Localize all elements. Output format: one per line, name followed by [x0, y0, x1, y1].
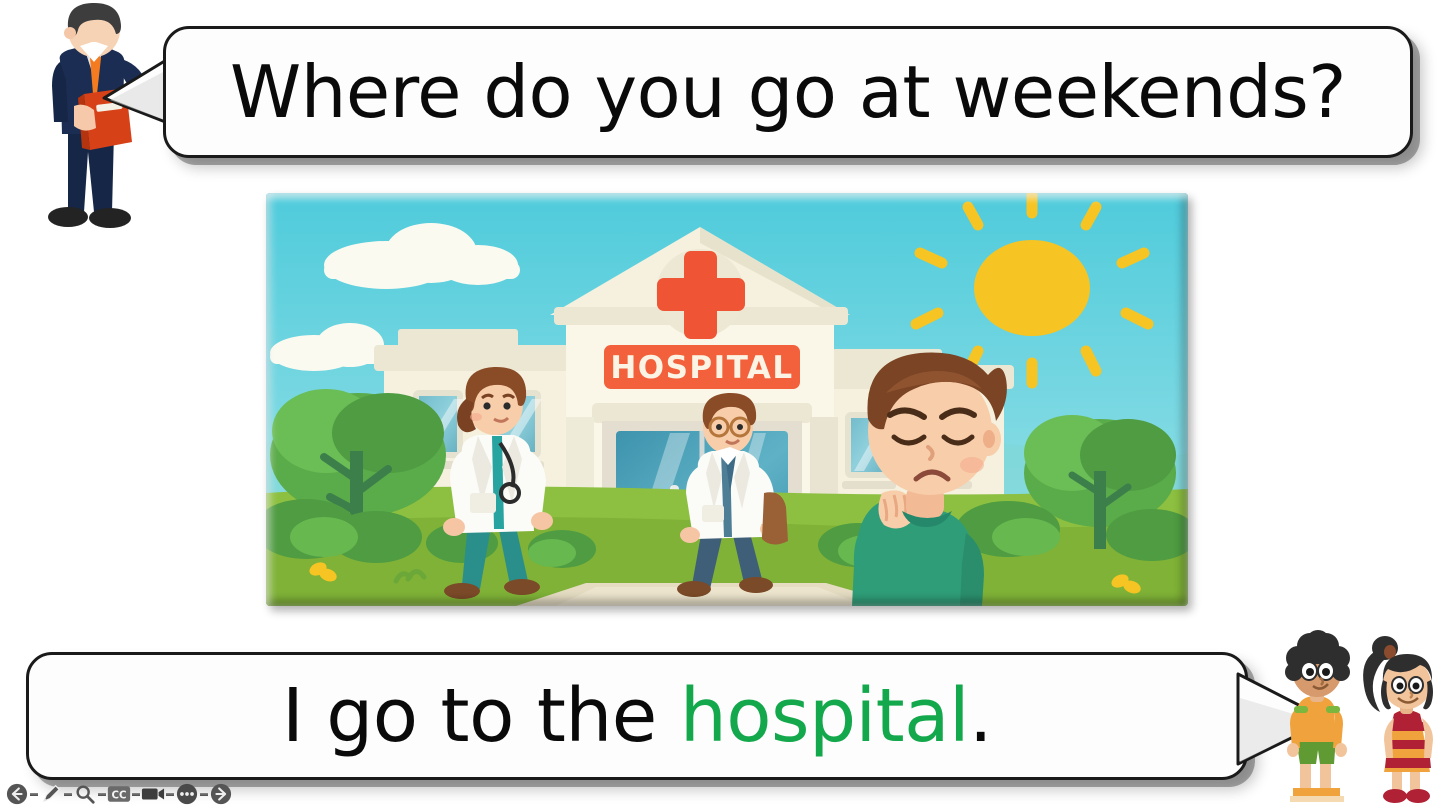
- closed-caption-icon[interactable]: CC: [106, 782, 132, 806]
- question-text: Where do you go at weekends?: [230, 56, 1346, 128]
- toolbar-divider: [132, 793, 140, 796]
- toolbar-divider: [64, 793, 72, 796]
- lesson-slide: Where do you go at weekends?: [0, 0, 1445, 810]
- girl-figure: [1363, 636, 1433, 803]
- back-arrow-icon[interactable]: [4, 782, 30, 806]
- pen-icon[interactable]: [38, 782, 64, 806]
- toolbar-divider: [30, 793, 38, 796]
- hospital-sign-text: HOSPITAL: [610, 350, 793, 386]
- boy-figure: [1285, 630, 1350, 802]
- children-illustration: [1268, 630, 1445, 810]
- answer-keyword: hospital: [680, 673, 969, 759]
- toolbar-divider: [200, 793, 208, 796]
- answer-text: I go to the hospital.: [282, 679, 992, 753]
- children-figures: [1268, 630, 1445, 810]
- more-options-icon[interactable]: [174, 782, 200, 806]
- forward-arrow-icon[interactable]: [208, 782, 234, 806]
- answer-prefix: I go to the: [282, 673, 680, 759]
- toolbar-divider: [166, 793, 174, 796]
- hospital-picture[interactable]: HOSPITAL: [266, 193, 1188, 606]
- zoom-icon[interactable]: [72, 782, 98, 806]
- toolbar-divider: [98, 793, 106, 796]
- hospital-scene-illustration: HOSPITAL: [266, 193, 1188, 606]
- answer-suffix: .: [969, 673, 992, 759]
- svg-text:CC: CC: [111, 789, 126, 801]
- video-icon[interactable]: [140, 782, 166, 806]
- question-speech-bubble: Where do you go at weekends?: [163, 26, 1413, 158]
- player-toolbar[interactable]: CC: [4, 781, 234, 807]
- answer-speech-bubble: I go to the hospital.: [26, 652, 1248, 780]
